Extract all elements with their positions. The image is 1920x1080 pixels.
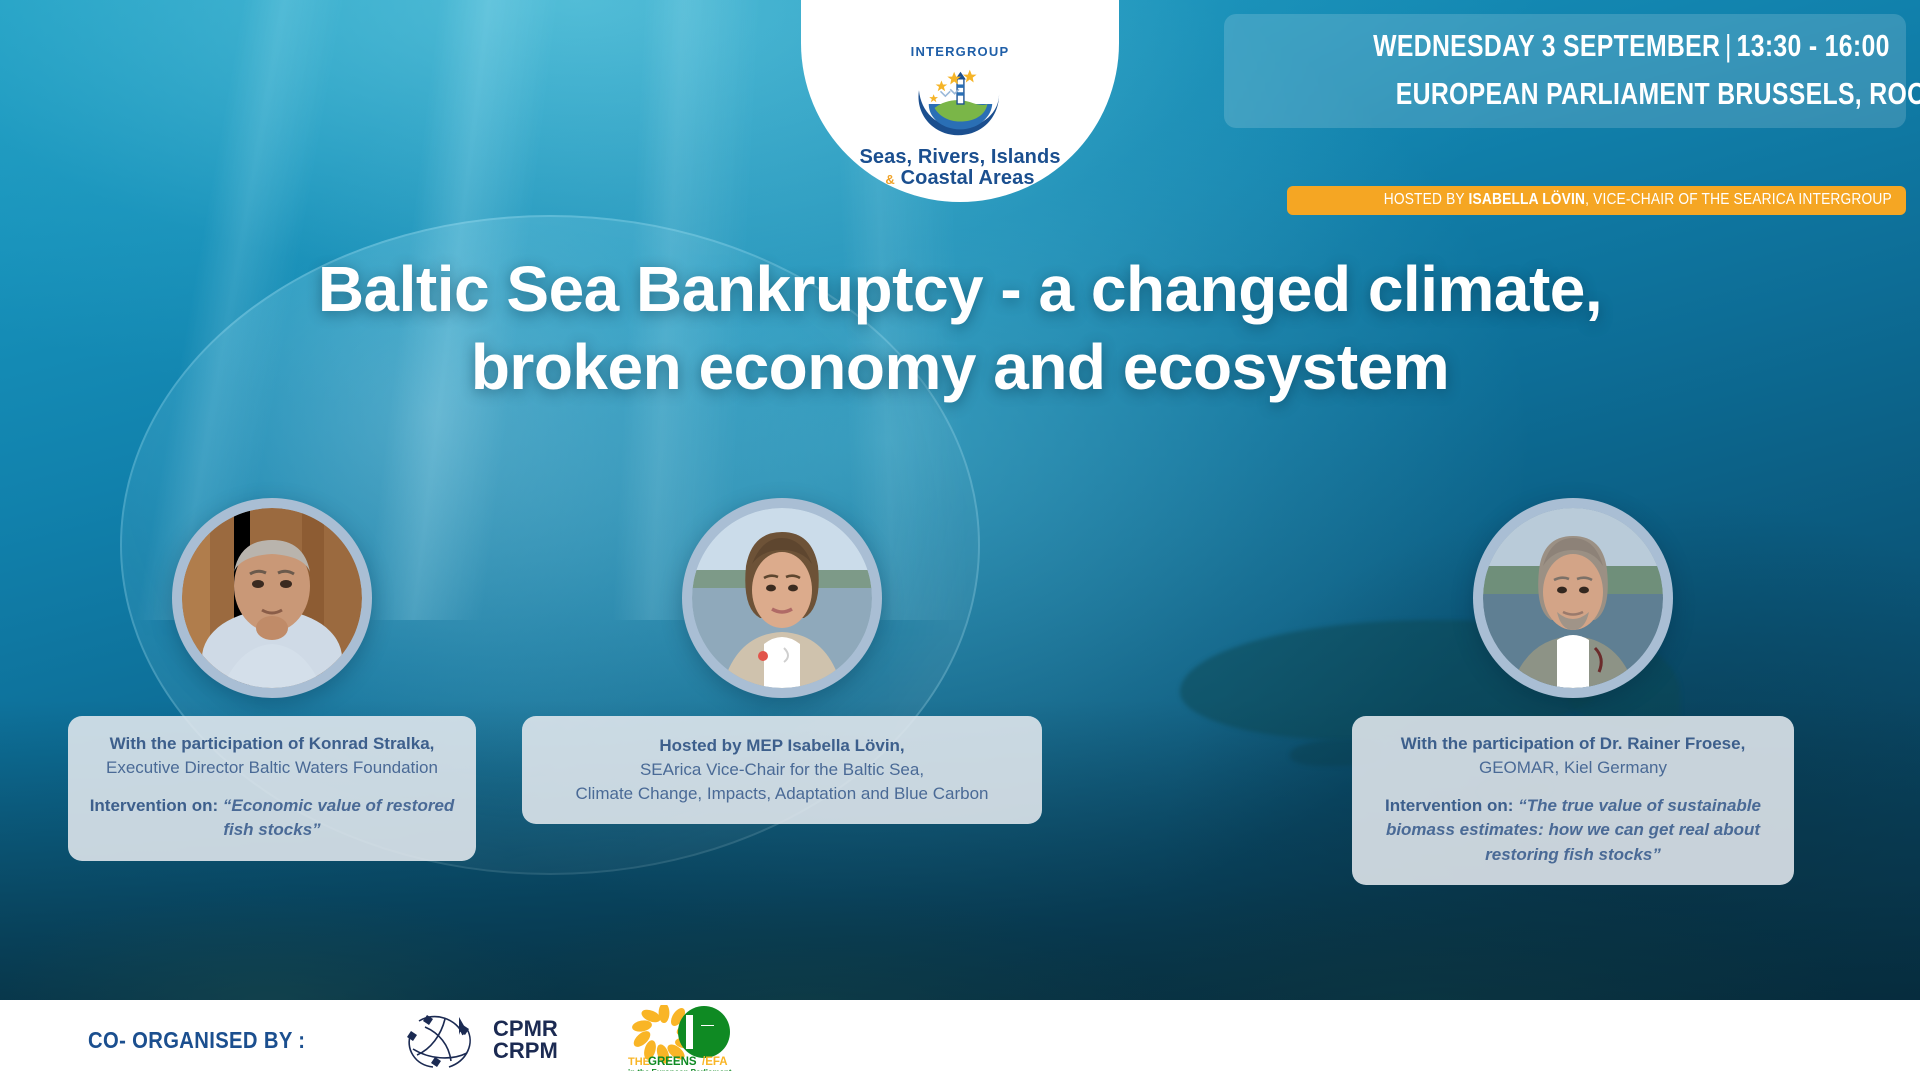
logo-wordmark: Seas, Rivers, Islands & Coastal Areas <box>859 147 1060 190</box>
svg-text:/EFA: /EFA <box>702 1056 728 1068</box>
caption-spacer <box>86 780 458 794</box>
event-poster: INTERGROUP Seas, Rivers, Islands & Coast… <box>0 0 1920 1080</box>
event-time: 13:30 - 16:00 <box>1737 28 1890 63</box>
host-name: ISABELLA LÖVIN <box>1469 191 1586 208</box>
avatar <box>1483 508 1663 688</box>
logo-ampersand: & <box>885 172 895 187</box>
event-info-panel: WEDNESDAY 3 SEPTEMBER|13:30 - 16:00 EURO… <box>1224 14 1906 128</box>
page-title: Baltic Sea Bankruptcy - a changed climat… <box>0 250 1920 406</box>
lighthouse-wave-stars-logo <box>901 61 1019 145</box>
speaker-affiliation: GEOMAR, Kiel Germany <box>1479 758 1667 777</box>
avatar-ring <box>682 498 882 698</box>
avatar-ring <box>1473 498 1673 698</box>
speaker-card-konrad-stralka: With the participation of Konrad Stralka… <box>68 498 476 861</box>
footer: CO- ORGANISED BY : <box>0 1000 1920 1080</box>
speaker-caption: With the participation of Konrad Stralka… <box>68 716 476 861</box>
intervention-title: “Economic value of restored fish stocks” <box>223 796 454 839</box>
speaker-card-isabella-lovin: Hosted by MEP Isabella Lövin, SEArica Vi… <box>560 498 1004 824</box>
intervention-label: Intervention on: <box>90 796 223 815</box>
cpmr-line-2: CRPM <box>493 1040 558 1062</box>
speaker-caption: With the participation of Dr. Rainer Fro… <box>1352 716 1794 885</box>
speaker-role: With the participation of Dr. Rainer Fro… <box>1401 734 1746 753</box>
caption-spacer <box>1370 780 1776 794</box>
cpmr-line-1: CPMR <box>493 1018 558 1040</box>
logo-name-line1: Seas, Rivers, Islands <box>859 146 1060 168</box>
co-organised-label: CO- ORGANISED BY : <box>88 1027 335 1054</box>
host-badge: HOSTED BY ISABELLA LÖVIN, VICE-CHAIR OF … <box>1287 186 1906 215</box>
host-prefix: HOSTED BY <box>1384 191 1469 208</box>
title-line-1: Baltic Sea Bankruptcy - a changed climat… <box>90 250 1830 328</box>
speaker-role: Hosted by MEP Isabella Lövin, <box>659 736 904 755</box>
avatar <box>182 508 362 688</box>
cpmr-wordmark: CPMR CRPM <box>493 1018 558 1063</box>
event-datetime: WEDNESDAY 3 SEPTEMBER|13:30 - 16:00 <box>1244 28 1886 64</box>
svg-text:GREENS: GREENS <box>648 1056 697 1068</box>
speaker-role: With the participation of Konrad Stralka… <box>110 734 435 753</box>
co-organised-text: CO- ORGANISED BY : <box>88 1027 305 1054</box>
cpmr-compass-logo <box>401 1009 481 1071</box>
speaker-affiliation: SEArica Vice-Chair for the Baltic Sea, <box>640 760 924 779</box>
svg-text:in the European Parliament: in the European Parliament <box>628 1068 732 1071</box>
intervention-label: Intervention on: <box>1385 796 1518 815</box>
portrait-rainer-froese <box>1483 508 1663 688</box>
portrait-isabella-lovin <box>692 508 872 688</box>
portrait-konrad-stralka <box>182 508 362 688</box>
title-line-2: broken economy and ecosystem <box>90 328 1830 406</box>
host-suffix: , VICE-CHAIR OF THE SEARICA INTERGROUP <box>1585 191 1892 208</box>
cpmr-logo: CPMR CRPM <box>401 1009 558 1071</box>
avatar-ring <box>172 498 372 698</box>
speaker-affiliation-2: Climate Change, Impacts, Adaptation and … <box>576 784 989 803</box>
event-venue: EUROPEAN PARLIAMENT BRUSSELS, ROOM 1G3 <box>1244 76 1886 112</box>
greens-efa-sunflower-logo: THE GREENS /EFA in the European Parliame… <box>620 1005 750 1071</box>
datetime-separator: | <box>1720 28 1736 63</box>
logo-name-line2: Coastal Areas <box>901 167 1035 189</box>
greens-efa-logo: THE GREENS /EFA in the European Parliame… <box>620 1005 750 1076</box>
speaker-caption: Hosted by MEP Isabella Lövin, SEArica Vi… <box>522 716 1042 824</box>
speaker-affiliation: Executive Director Baltic Waters Foundat… <box>106 758 438 777</box>
event-date: WEDNESDAY 3 SEPTEMBER <box>1373 28 1720 63</box>
host-badge-text: HOSTED BY ISABELLA LÖVIN, VICE-CHAIR OF … <box>1384 191 1892 209</box>
speaker-card-rainer-froese: With the participation of Dr. Rainer Fro… <box>1352 498 1794 885</box>
event-venue-text: EUROPEAN PARLIAMENT BRUSSELS, ROOM 1G3 <box>1396 76 1920 112</box>
svg-text:THE: THE <box>628 1056 650 1068</box>
avatar <box>692 508 872 688</box>
intergroup-label: INTERGROUP <box>911 44 1010 59</box>
